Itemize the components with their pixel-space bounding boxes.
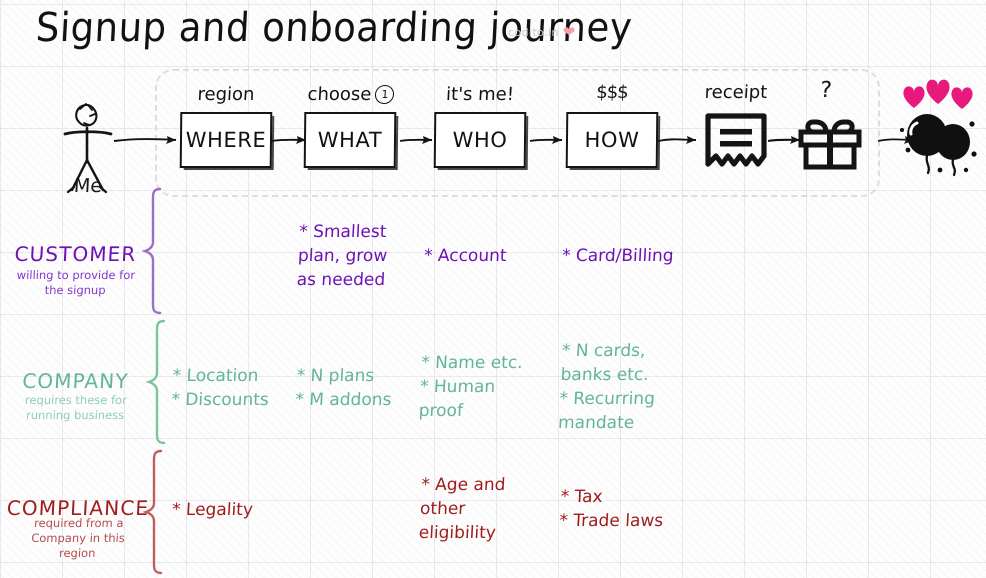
gift-icon[interactable] (796, 108, 864, 170)
arrow-how-to-receipt (656, 128, 704, 152)
row-subtitle-company: requires these for running business (7, 393, 144, 423)
watermark: codito.in ❤ (508, 25, 576, 40)
cell-company-who: * Name etc. * Human proof (418, 351, 552, 423)
cell-company-what: * N plans * M addons (295, 364, 418, 412)
cell-company-how: * N cards, banks etc. * Recurring mandat… (557, 339, 702, 436)
cell-customer-who: * Account (423, 244, 554, 268)
cell-compliance-where: * Legality (171, 498, 292, 522)
cell-compliance-how: * Tax * Trade laws (559, 485, 702, 533)
flow-node-what[interactable]: WHAT (304, 112, 397, 168)
watermark-label: codito.in (508, 26, 559, 39)
row-title-customer: CUSTOMER (7, 242, 143, 266)
brace-company (146, 318, 168, 446)
flow-node-who-label: WHO (452, 128, 507, 152)
receipt-icon[interactable] (702, 112, 770, 170)
brace-customer (142, 186, 164, 316)
step-caption-what: choose1 (295, 84, 406, 105)
row-subtitle-compliance: required from a Company in this region (7, 516, 149, 562)
badge-step-number: 1 (375, 85, 395, 104)
actor-label: Me (57, 175, 118, 197)
step-caption-gift: ? (799, 78, 852, 103)
row-subtitle-customer: willing to provide for the signup (7, 268, 144, 298)
cell-compliance-who: * Age and other eligibility (418, 473, 552, 545)
row-title-company: COMPANY (7, 369, 143, 393)
flow-node-how-label: HOW (584, 128, 639, 152)
cell-company-where: * Location * Discounts (171, 364, 294, 412)
celebration-icon (896, 78, 980, 178)
cell-customer-what: * Smallest plan, grow as needed (296, 220, 410, 292)
arrow-actor-to-where (112, 128, 184, 152)
flow-node-how[interactable]: HOW (566, 112, 659, 168)
heart-icon: ❤ (563, 25, 576, 40)
flow-node-who[interactable]: WHO (434, 112, 527, 168)
flow-node-where-label: WHERE (186, 128, 267, 152)
step-caption-who: it's me! (433, 84, 526, 105)
arrow-who-to-how (528, 128, 570, 152)
flow-node-where[interactable]: WHERE (180, 112, 273, 168)
step-caption-where: region (179, 84, 272, 105)
flow-node-what-label: WHAT (318, 128, 383, 152)
cell-customer-how: * Card/Billing (561, 244, 702, 268)
step-caption-receipt: receipt (693, 82, 778, 103)
step-caption-how: $$$ (565, 82, 658, 103)
